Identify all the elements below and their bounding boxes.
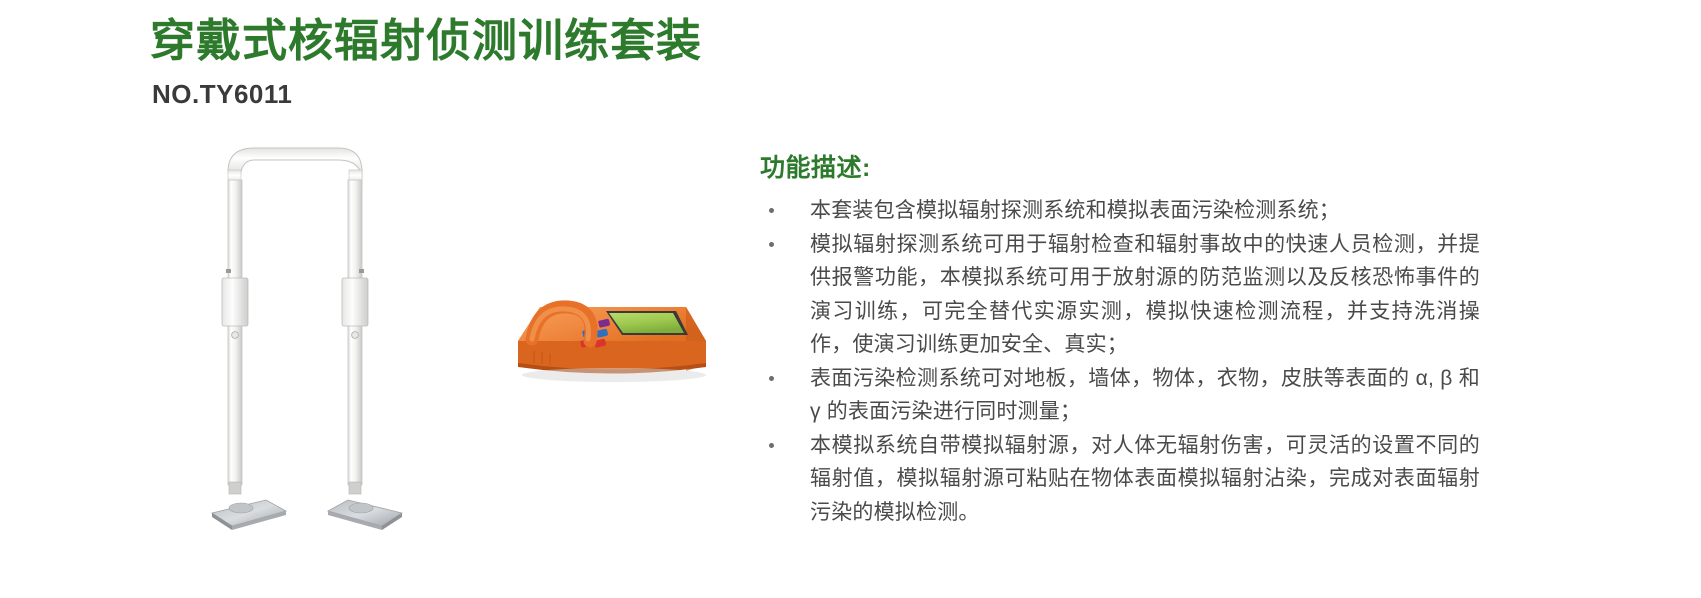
list-item: 表面污染检测系统可对地板，墙体，物体，衣物，皮肤等表面的 α, β 和 γ 的表… bbox=[760, 362, 1480, 429]
description-panel: 功能描述: 本套装包含模拟辐射探测系统和模拟表面污染检测系统； 模拟辐射探测系统… bbox=[760, 148, 1480, 529]
list-item: 本模拟系统自带模拟辐射源，对人体无辐射伤害，可灵活的设置不同的辐射值，模拟辐射源… bbox=[760, 429, 1480, 530]
description-heading: 功能描述: bbox=[760, 148, 1480, 184]
title-block: 穿戴式核辐射侦测训练套装 NO.TY6011 bbox=[150, 14, 702, 110]
product-gallery bbox=[150, 130, 740, 570]
bullet-dot-icon bbox=[769, 443, 774, 448]
list-item: 模拟辐射探测系统可用于辐射检查和辐射事故中的快速人员检测，并提供报警功能，本模拟… bbox=[760, 228, 1480, 362]
bullet-dot-icon bbox=[769, 376, 774, 381]
feature-text: 表面污染检测系统可对地板，墙体，物体，衣物，皮肤等表面的 α, β 和 γ 的表… bbox=[810, 362, 1480, 429]
feature-text: 本套装包含模拟辐射探测系统和模拟表面污染检测系统； bbox=[810, 194, 1480, 228]
portal-monitor-image bbox=[210, 130, 470, 545]
bullet-dot-icon bbox=[769, 208, 774, 213]
feature-text: 模拟辐射探测系统可用于辐射检查和辐射事故中的快速人员检测，并提供报警功能，本模拟… bbox=[810, 228, 1480, 362]
bullet-dot-icon bbox=[769, 242, 774, 247]
page-title: 穿戴式核辐射侦测训练套装 bbox=[150, 14, 702, 69]
page-root: 穿戴式核辐射侦测训练套装 NO.TY6011 bbox=[0, 0, 1701, 598]
feature-list: 本套装包含模拟辐射探测系统和模拟表面污染检测系统； 模拟辐射探测系统可用于辐射检… bbox=[760, 194, 1480, 529]
handheld-detector-image bbox=[510, 245, 720, 390]
feature-text: 本模拟系统自带模拟辐射源，对人体无辐射伤害，可灵活的设置不同的辐射值，模拟辐射源… bbox=[810, 429, 1480, 530]
list-item: 本套装包含模拟辐射探测系统和模拟表面污染检测系统； bbox=[760, 194, 1480, 228]
product-model-number: NO.TY6011 bbox=[152, 79, 702, 110]
